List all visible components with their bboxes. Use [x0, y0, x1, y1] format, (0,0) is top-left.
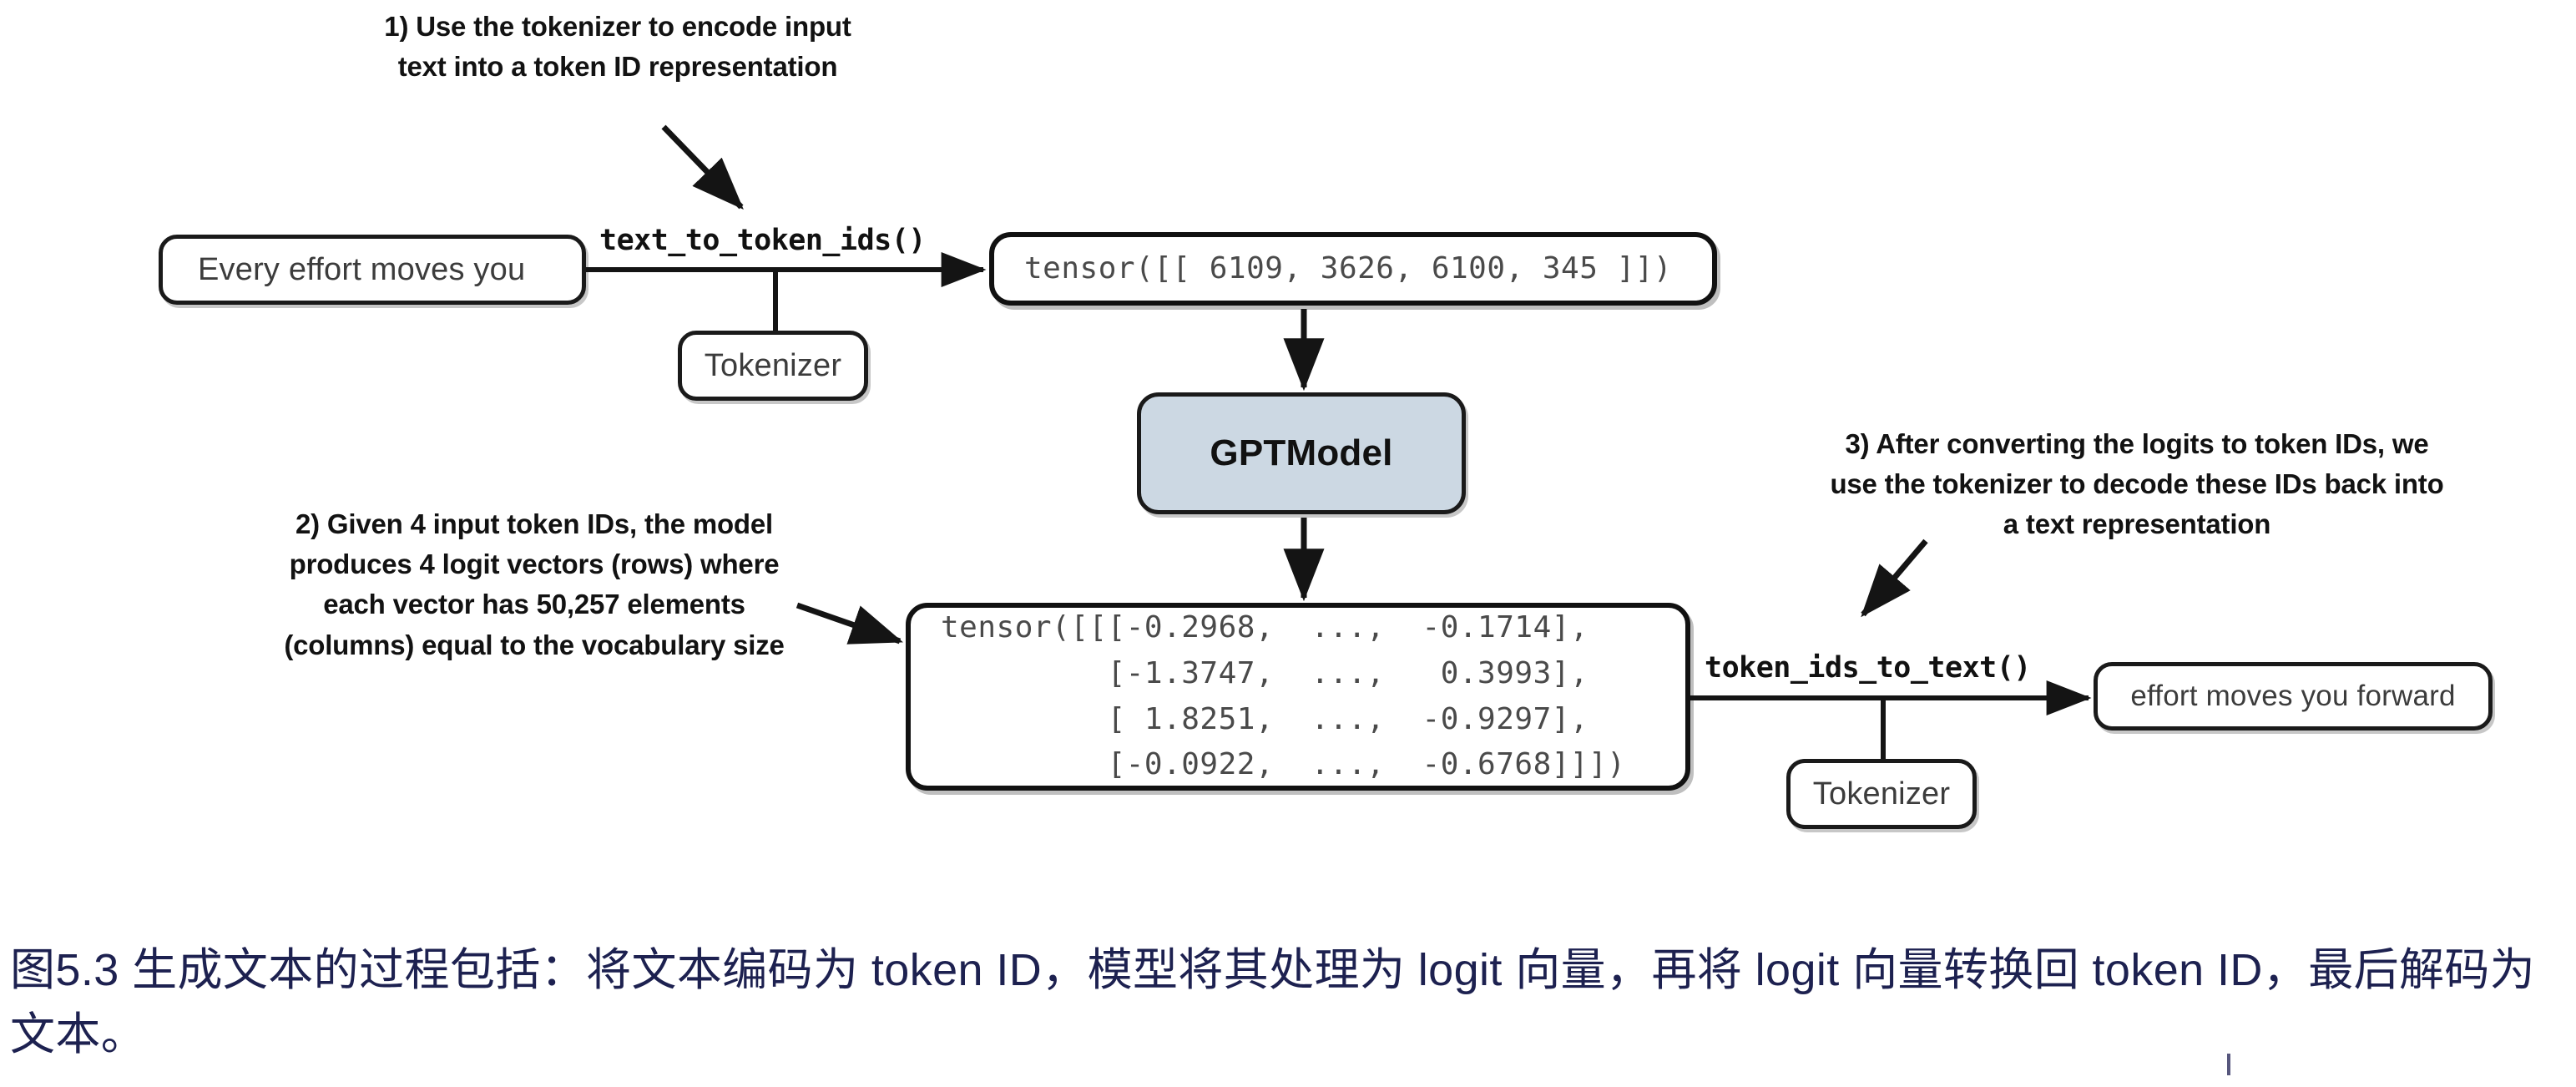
- arrow-annotation-1: [664, 127, 741, 207]
- token-ids-tensor-text: tensor([[ 6109, 3626, 6100, 345 ]]): [1024, 246, 1672, 292]
- output-text-label: effort moves you forward: [2130, 680, 2455, 713]
- input-text-box[interactable]: Every effort moves you: [159, 235, 586, 305]
- connector-tokenizer-decode-stem: [1881, 695, 1886, 761]
- input-text-label: Every effort moves you: [198, 252, 525, 288]
- tokenizer-decode-box[interactable]: Tokenizer: [1786, 759, 1977, 829]
- annotation-step-2: 2) Given 4 input token IDs, the model pr…: [205, 504, 864, 665]
- decode-function-label: token_ids_to_text(): [1705, 651, 2031, 685]
- gpt-model-box[interactable]: GPTModel: [1137, 392, 1466, 514]
- text-cursor-caret: [2227, 1054, 2230, 1075]
- tokenizer-encode-box[interactable]: Tokenizer: [678, 331, 868, 401]
- annotation-step-3: 3) After converting the logits to token …: [1770, 424, 2504, 545]
- arrow-annotation-3: [1863, 541, 1926, 614]
- tokenizer-encode-label: Tokenizer: [705, 348, 841, 384]
- output-text-box[interactable]: effort moves you forward: [2094, 662, 2493, 731]
- annotation-step-1: 1) Use the tokenizer to encode input tex…: [288, 7, 947, 87]
- tokenizer-decode-label: Tokenizer: [1813, 776, 1950, 812]
- encode-function-label: text_to_token_ids(): [599, 224, 926, 257]
- connector-tokenizer-encode-stem: [773, 267, 778, 332]
- figure-caption: 图5.3 生成文本的过程包括：将文本编码为 token ID，模型将其处理为 l…: [10, 938, 2564, 1066]
- logits-tensor-box[interactable]: tensor([[[-0.2968, ..., -0.1714], [-1.37…: [906, 603, 1690, 791]
- logits-tensor-text: tensor([[[-0.2968, ..., -0.1714], [-1.37…: [941, 605, 1625, 788]
- figure-canvas: 1) Use the tokenizer to encode input tex…: [0, 0, 2576, 1087]
- gpt-model-label: GPTModel: [1210, 432, 1392, 474]
- connector-input-to-tokenids: [586, 267, 974, 272]
- token-ids-tensor-box[interactable]: tensor([[ 6109, 3626, 6100, 345 ]]): [989, 232, 1717, 306]
